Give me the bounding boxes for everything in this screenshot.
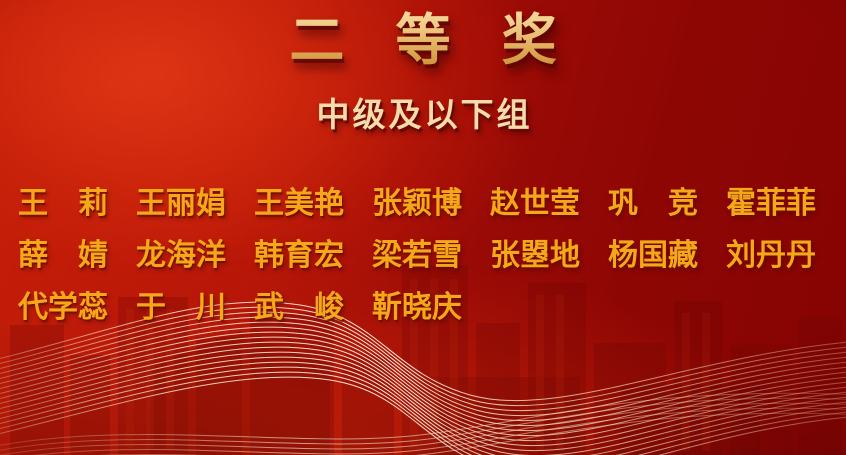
awardee-name: 杨国藏 — [594, 230, 712, 282]
awardee-name: 于 川 — [122, 282, 240, 334]
awardee-name: 武 峻 — [240, 282, 358, 334]
awardee-name: 龙海洋 — [122, 230, 240, 282]
awardee-list: 王 莉 王丽娟 王美艳 张颖博 赵世莹 巩 竞 霍菲菲 薛 婧 龙海洋 韩育宏 … — [0, 178, 846, 334]
awardee-name: 张颖博 — [358, 178, 476, 230]
awardee-name: 巩 竞 — [594, 178, 712, 230]
awardee-name: 王 莉 — [4, 178, 122, 230]
awardee-name: 靳晓庆 — [358, 282, 476, 334]
awardee-name: 王美艳 — [240, 178, 358, 230]
page-subtitle: 中级及以下组 — [0, 95, 846, 135]
awardee-row: 王 莉 王丽娟 王美艳 张颖博 赵世莹 巩 竞 霍菲菲 — [4, 178, 842, 230]
awardee-name: 梁若雪 — [358, 230, 476, 282]
page-title: 二 等 奖 — [0, 8, 846, 73]
awardee-name: 赵世莹 — [476, 178, 594, 230]
awardee-name: 张曌地 — [476, 230, 594, 282]
awardee-name: 代学蕊 — [4, 282, 122, 334]
award-poster: 二 等 奖 中级及以下组 王 莉 王丽娟 王美艳 张颖博 赵世莹 巩 竞 霍菲菲… — [0, 0, 846, 455]
awardee-name: 王丽娟 — [122, 178, 240, 230]
awardee-row: 代学蕊 于 川 武 峻 靳晓庆 — [4, 282, 842, 334]
poster-content: 二 等 奖 中级及以下组 王 莉 王丽娟 王美艳 张颖博 赵世莹 巩 竞 霍菲菲… — [0, 0, 846, 455]
awardee-row: 薛 婧 龙海洋 韩育宏 梁若雪 张曌地 杨国藏 刘丹丹 — [4, 230, 842, 282]
awardee-name: 韩育宏 — [240, 230, 358, 282]
awardee-name: 薛 婧 — [4, 230, 122, 282]
awardee-name: 霍菲菲 — [712, 178, 830, 230]
awardee-name: 刘丹丹 — [712, 230, 830, 282]
